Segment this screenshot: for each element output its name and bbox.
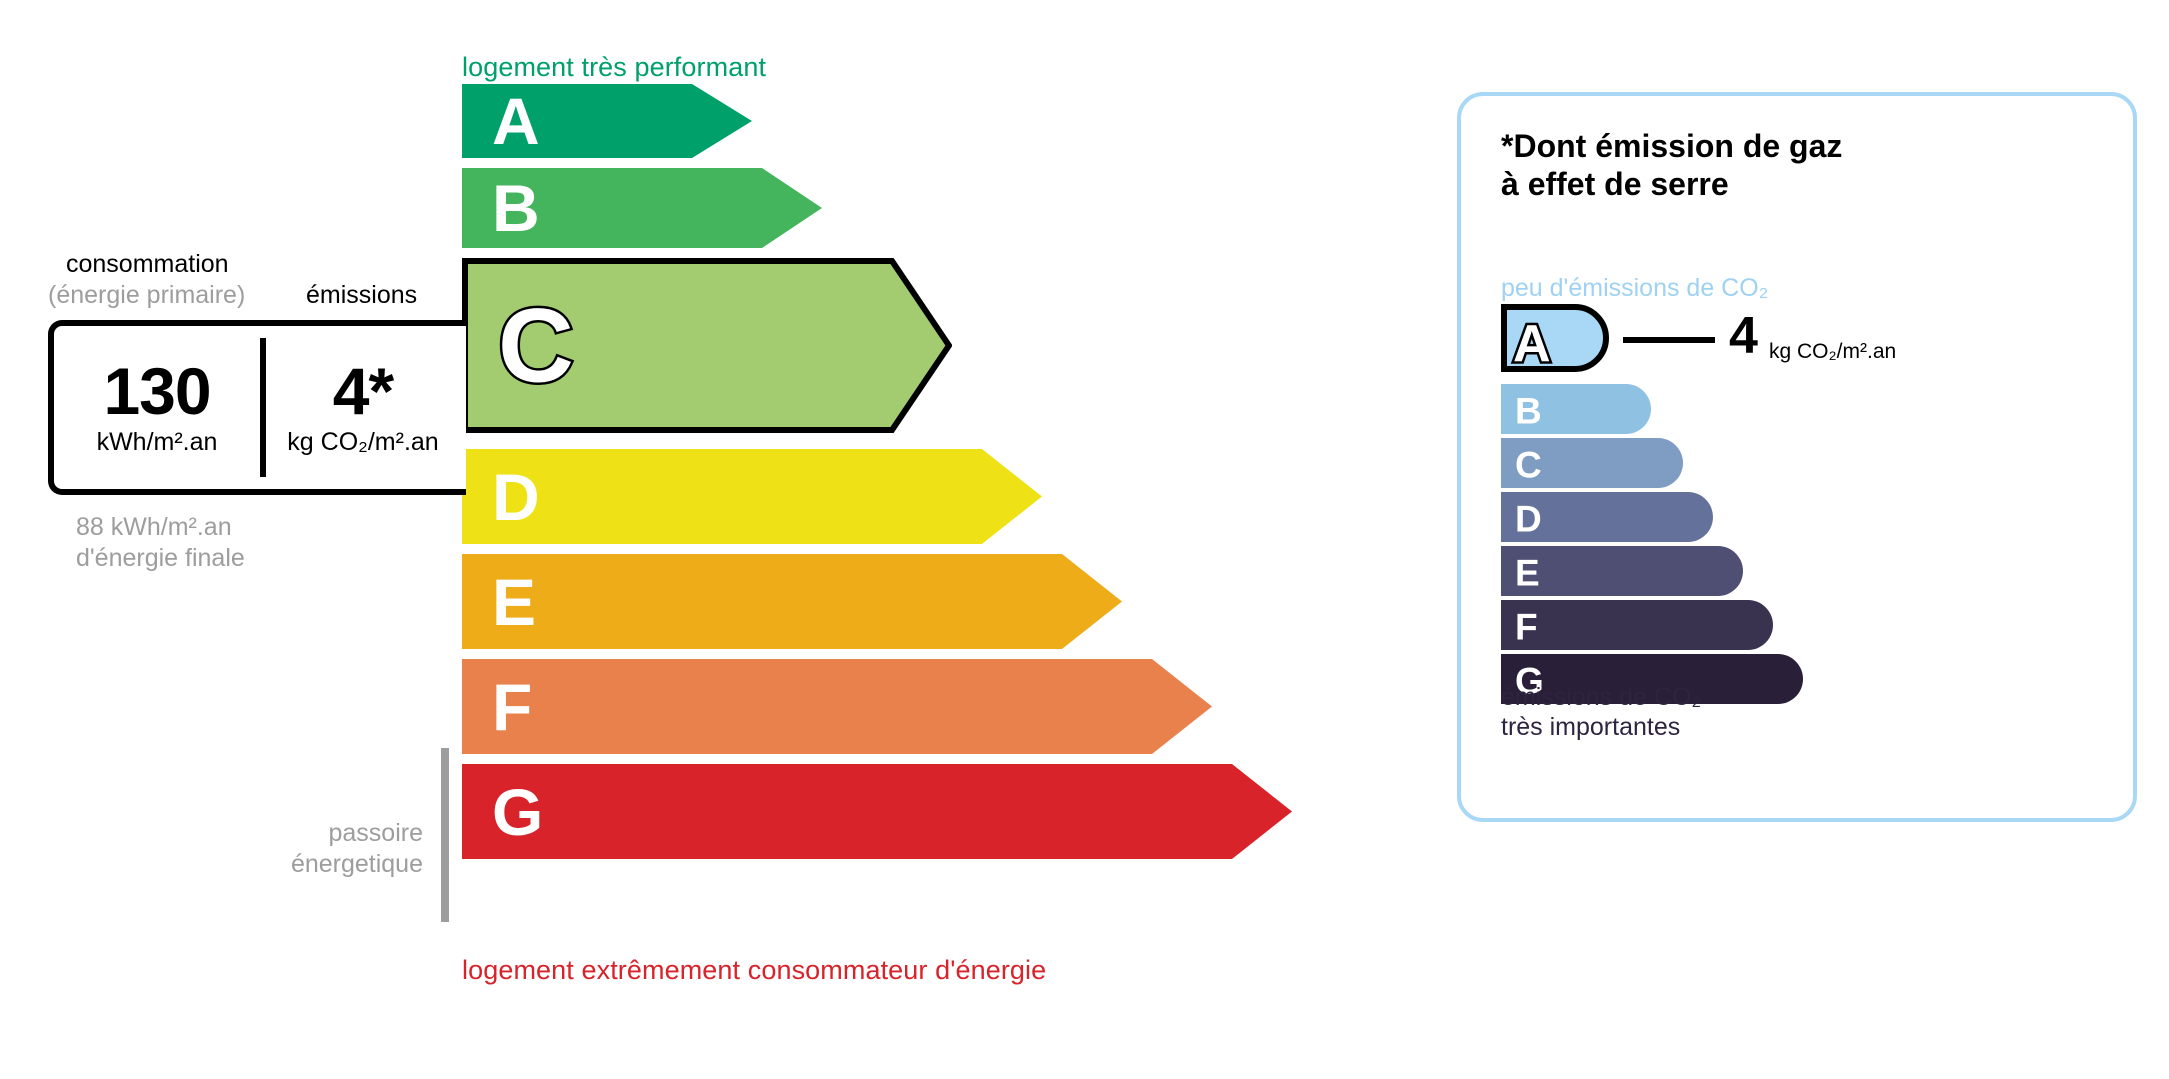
energy-band-e: E — [462, 554, 1282, 649]
co2-leader-line — [1623, 337, 1715, 343]
co2-row-e: E — [1501, 546, 2101, 600]
scale-top-caption: logement très performant — [462, 52, 766, 83]
consumption-value: 130 — [103, 358, 210, 424]
energy-band-b: B — [462, 168, 1282, 248]
co2-value: 4 — [1729, 310, 1758, 362]
emissions-label: émissions — [306, 281, 417, 310]
consumption-unit: kWh/m².an — [97, 428, 218, 457]
final-energy-label: 88 kWh/m².an d'énergie finale — [76, 512, 245, 573]
energy-band-d: D — [462, 449, 1282, 544]
emission-unit: kg CO₂/m².an — [287, 428, 438, 457]
passoire-bracket-icon — [441, 748, 449, 922]
co2-bar-letter: C — [1515, 447, 1542, 484]
energy-performance-diagram: logement très performant ABCDEFG 130 kWh… — [0, 0, 1420, 1079]
co2-panel-title: *Dont émission de gaz à effet de serre — [1501, 128, 1842, 204]
emission-value: 4* — [333, 358, 393, 424]
energy-band-g: G — [462, 764, 1282, 859]
co2-row-d: D — [1501, 492, 2101, 546]
energy-band-c: C — [462, 258, 1282, 433]
co2-bottom-caption: émissions de CO₂ très importantes — [1501, 682, 1701, 742]
emission-cell: 4* kg CO₂/m².an — [260, 326, 466, 489]
co2-top-caption: peu d'émissions de CO₂ — [1501, 274, 1768, 303]
co2-value-unit: kg CO₂/m².an — [1769, 340, 1896, 364]
consumption-cell: 130 kWh/m².an — [54, 326, 260, 489]
co2-row-a: A 4 kg CO₂/m².an — [1501, 304, 2101, 384]
primary-energy-label: (énergie primaire) — [48, 281, 245, 310]
co2-row-c: C — [1501, 438, 2101, 492]
consumption-label: consommation — [66, 250, 229, 279]
co2-emission-panel: *Dont émission de gaz à effet de serre p… — [1457, 92, 2137, 822]
co2-bar-letter: B — [1515, 393, 1542, 430]
co2-bar-letter: E — [1515, 555, 1540, 592]
consumption-emission-box: 130 kWh/m².an 4* kg CO₂/m².an — [48, 320, 466, 495]
passoire-label: passoire énergetique — [180, 818, 423, 879]
co2-current-class-letter: A — [1513, 318, 1551, 370]
co2-bar-letter: F — [1515, 609, 1538, 646]
energy-band-f: F — [462, 659, 1282, 754]
co2-bar — [1501, 600, 1773, 650]
scale-bottom-caption: logement extrêmement consommateur d'éner… — [462, 955, 1046, 986]
co2-row-b: B — [1501, 384, 2101, 438]
energy-band-a: A — [462, 84, 1282, 158]
energy-class-band-list: ABCDEFG — [462, 84, 1282, 869]
co2-row-f: F — [1501, 600, 2101, 654]
co2-bar-letter: D — [1515, 501, 1542, 538]
co2-class-bar-list: A 4 kg CO₂/m².an BCDEFG — [1501, 304, 2101, 708]
